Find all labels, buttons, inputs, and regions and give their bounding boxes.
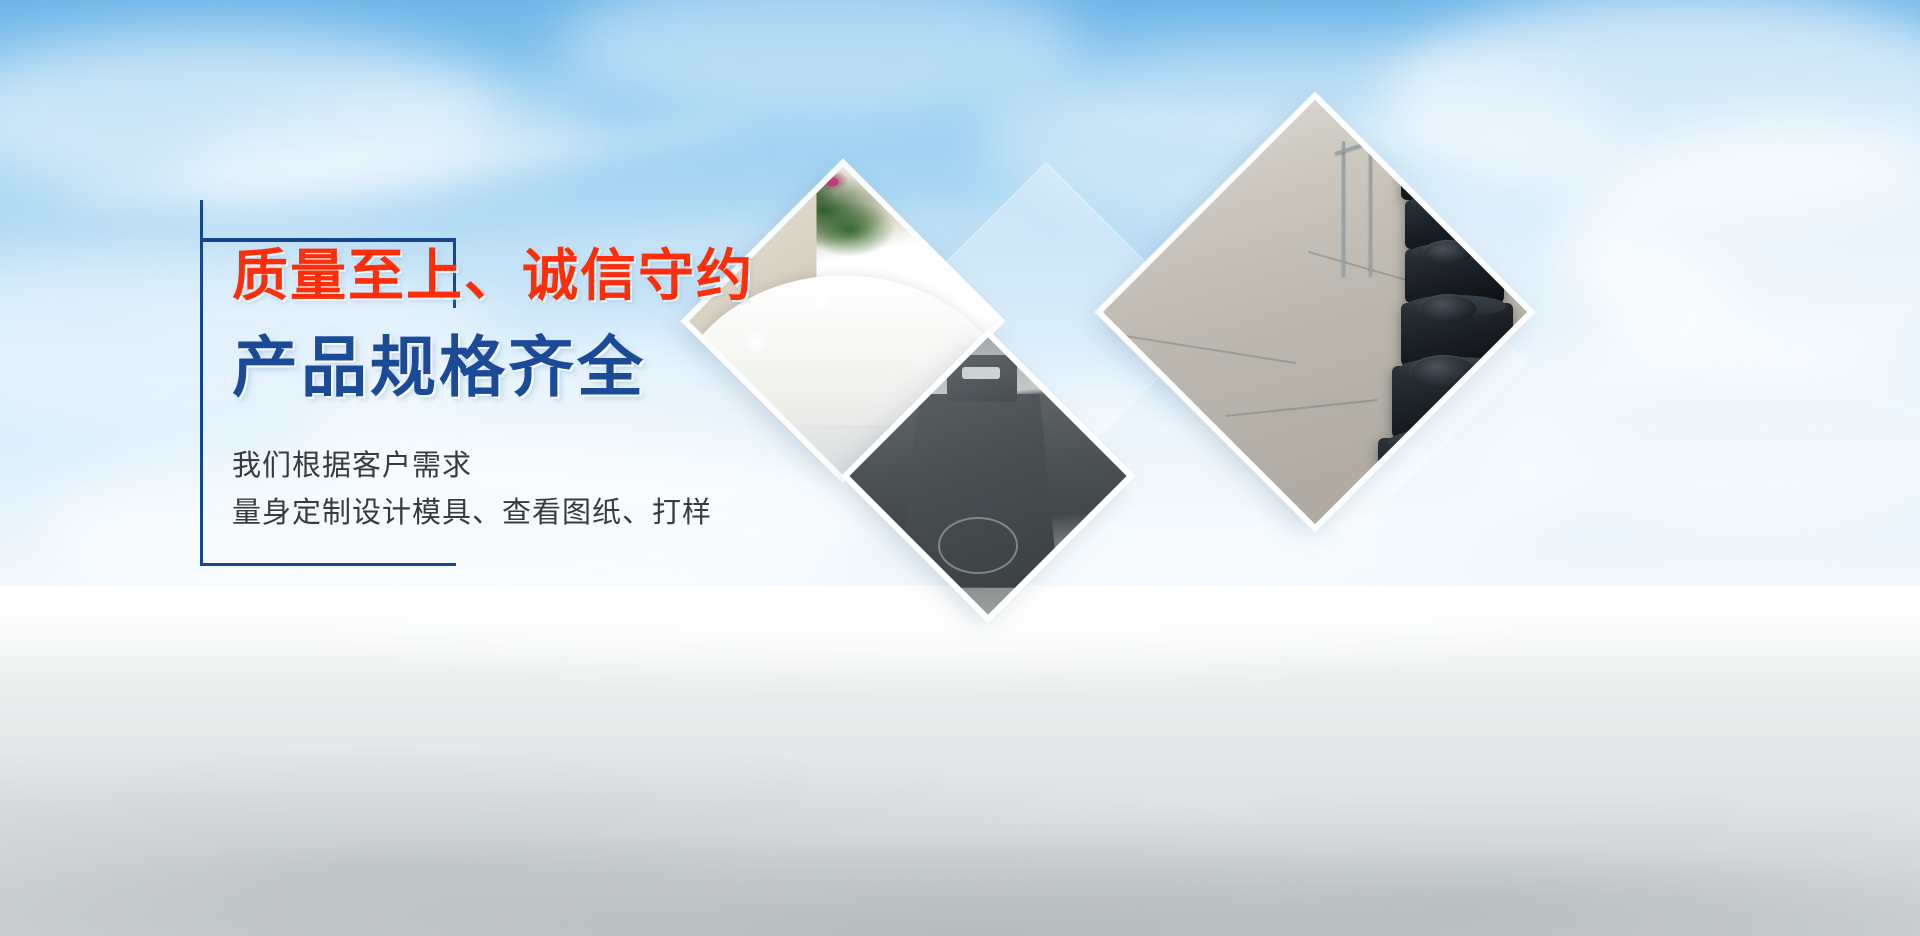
subtitle-line-1: 我们根据客户需求 [232,442,754,489]
pavement-ground [0,586,1920,936]
subtitle-line-2: 量身定制设计模具、查看图纸、打样 [232,489,754,536]
headline-secondary: 产品规格齐全 [232,333,754,402]
frame-line-bottom [200,563,456,566]
headline-primary: 质量至上、诚信守约 [232,248,754,307]
banner-text-block: 质量至上、诚信守约 产品规格齐全 我们根据客户需求 量身定制设计模具、查看图纸、… [232,248,754,536]
frame-line-left [200,200,203,566]
frame-line-top [200,238,456,242]
pavement-sheen [0,586,1920,746]
banner-subtitle: 我们根据客户需求 量身定制设计模具、查看图纸、打样 [232,442,754,536]
banner-stage: 质量至上、诚信守约 产品规格齐全 我们根据客户需求 量身定制设计模具、查看图纸、… [0,0,1920,936]
